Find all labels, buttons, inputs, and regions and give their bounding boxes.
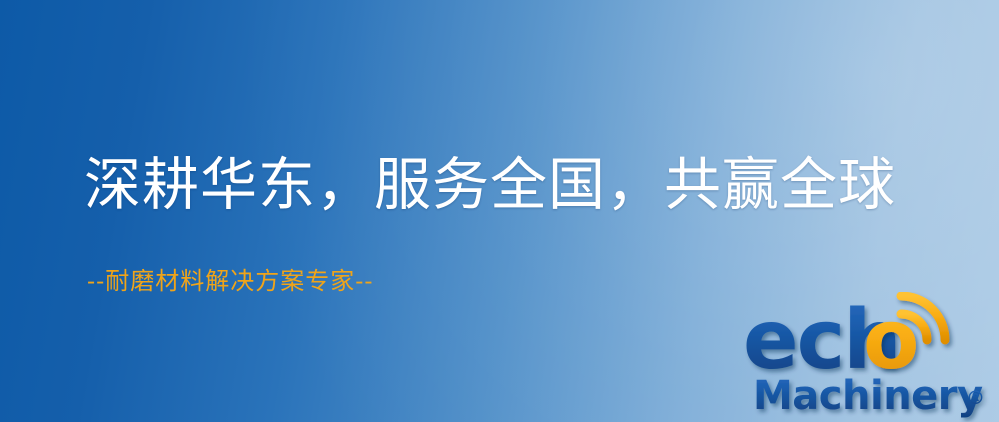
banner-subtitle: --耐磨材料解决方案专家-- xyxy=(87,266,373,296)
echo-machinery-logo[interactable]: ech o Machinery ® xyxy=(735,292,999,422)
registered-trademark-icon: ® xyxy=(966,387,985,409)
logo-text-machinery: Machinery ® xyxy=(753,373,985,419)
promo-banner: 深耕华东，服务全国，共赢全球 --耐磨材料解决方案专家-- xyxy=(0,0,999,422)
logo-machinery-glyphs: Machinery xyxy=(753,373,983,419)
banner-headline: 深耕华东，服务全国，共赢全球 xyxy=(84,150,896,220)
